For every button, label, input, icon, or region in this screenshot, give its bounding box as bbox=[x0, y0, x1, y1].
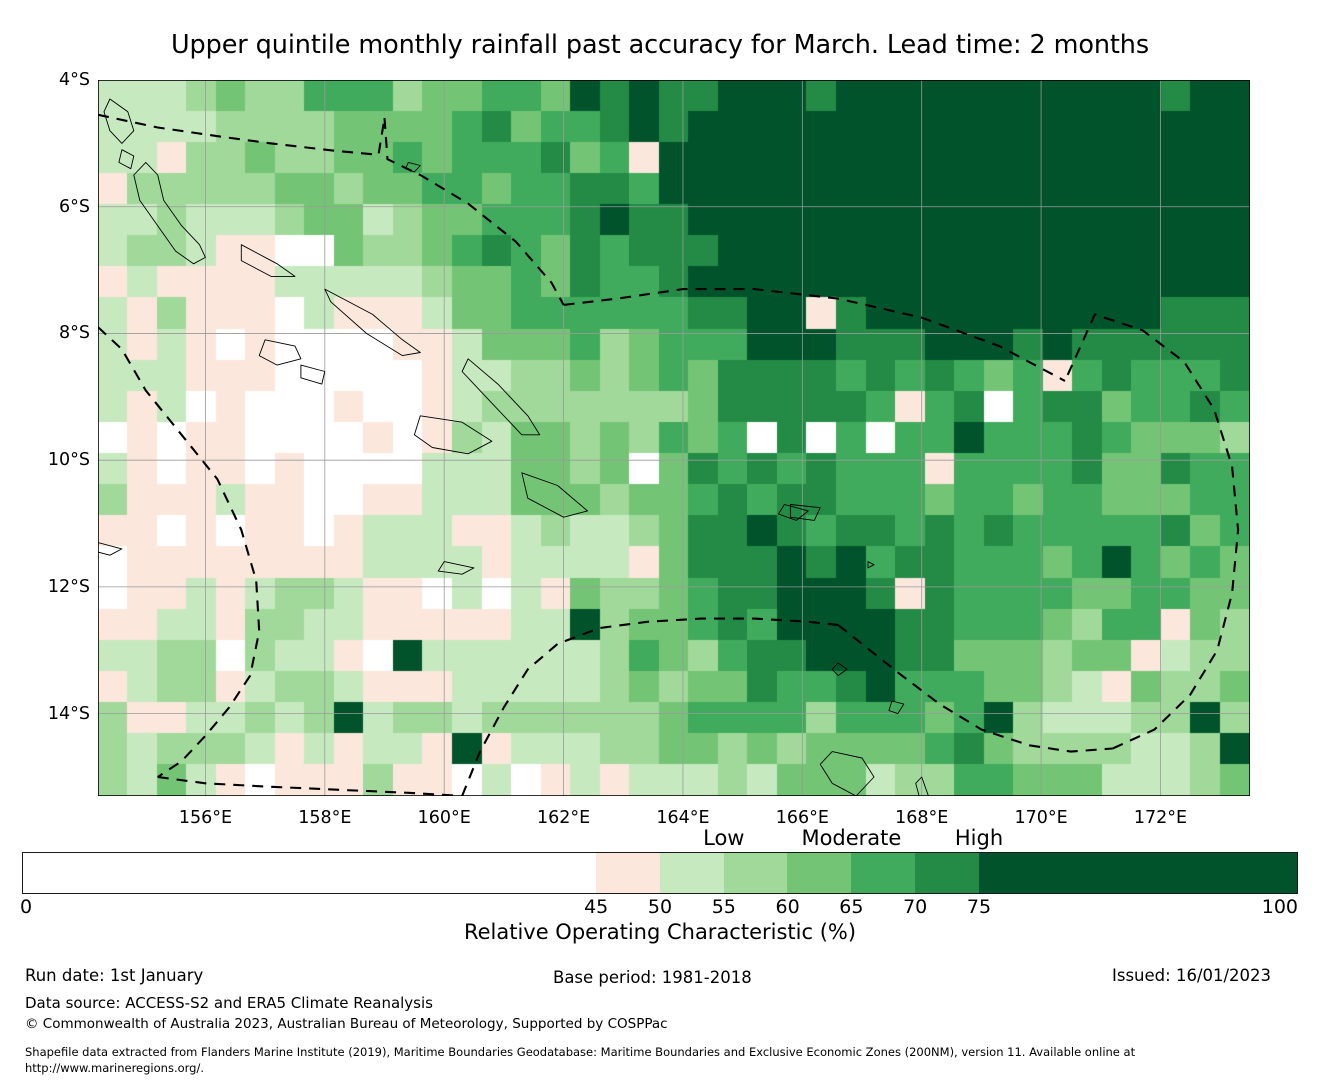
copyright-text: © Commonwealth of Australia 2023, Austra… bbox=[25, 1016, 668, 1032]
colorbar-segment bbox=[787, 853, 851, 893]
longitude-axis: 156°E158°E160°E162°E164°E166°E168°E170°E… bbox=[0, 0, 1320, 1080]
colorbar-segment bbox=[915, 853, 979, 893]
lon-tick-label: 162°E bbox=[537, 808, 590, 828]
colorbar-tick: 60 bbox=[776, 896, 800, 918]
colorbar-tick: 75 bbox=[967, 896, 991, 918]
lon-tick-label: 156°E bbox=[179, 808, 232, 828]
colorbar-tick: 70 bbox=[903, 896, 927, 918]
lon-tick-label: 164°E bbox=[656, 808, 709, 828]
issued-date-text: Issued: 16/01/2023 bbox=[1112, 966, 1271, 985]
lon-tick-label: 158°E bbox=[298, 808, 351, 828]
colorbar-tick: 0 bbox=[20, 896, 32, 918]
colorbar-segment bbox=[979, 853, 1298, 893]
colorbar[interactable] bbox=[22, 852, 1298, 894]
lon-tick-label: 168°E bbox=[895, 808, 948, 828]
lon-tick-label: 170°E bbox=[1014, 808, 1067, 828]
colorbar-tick: 50 bbox=[648, 896, 672, 918]
shapefile-credit-line-1: Shapefile data extracted from Flanders M… bbox=[25, 1045, 1135, 1059]
figure-root: Upper quintile monthly rainfall past acc… bbox=[0, 0, 1320, 1080]
base-period-text: Base period: 1981-2018 bbox=[553, 968, 752, 987]
colorbar-segment bbox=[23, 853, 596, 893]
colorbar-tick: 45 bbox=[584, 896, 608, 918]
lon-tick-label: 166°E bbox=[776, 808, 829, 828]
shapefile-credit-line-2: http://www.marineregions.org/. bbox=[25, 1061, 204, 1075]
colorbar-segment bbox=[660, 853, 724, 893]
lon-tick-label: 160°E bbox=[418, 808, 471, 828]
colorbar-axis-label: Relative Operating Characteristic (%) bbox=[0, 920, 1320, 944]
colorbar-segment bbox=[596, 853, 660, 893]
colorbar-category-low: Low bbox=[703, 826, 744, 850]
colorbar-tick: 55 bbox=[712, 896, 736, 918]
colorbar-segment bbox=[851, 853, 915, 893]
lon-tick-label: 172°E bbox=[1134, 808, 1187, 828]
colorbar-tick: 65 bbox=[839, 896, 863, 918]
colorbar-category-moderate: Moderate bbox=[801, 826, 901, 850]
run-date-text: Run date: 1st January bbox=[25, 966, 203, 985]
colorbar-segment bbox=[724, 853, 788, 893]
data-source-text: Data source: ACCESS-S2 and ERA5 Climate … bbox=[25, 994, 433, 1012]
colorbar-category-high: High bbox=[955, 826, 1003, 850]
colorbar-tick: 100 bbox=[1262, 896, 1298, 918]
figure-footer: Run date: 1st January Base period: 1981-… bbox=[0, 966, 1320, 1080]
colorbar-gradient bbox=[22, 852, 1298, 894]
